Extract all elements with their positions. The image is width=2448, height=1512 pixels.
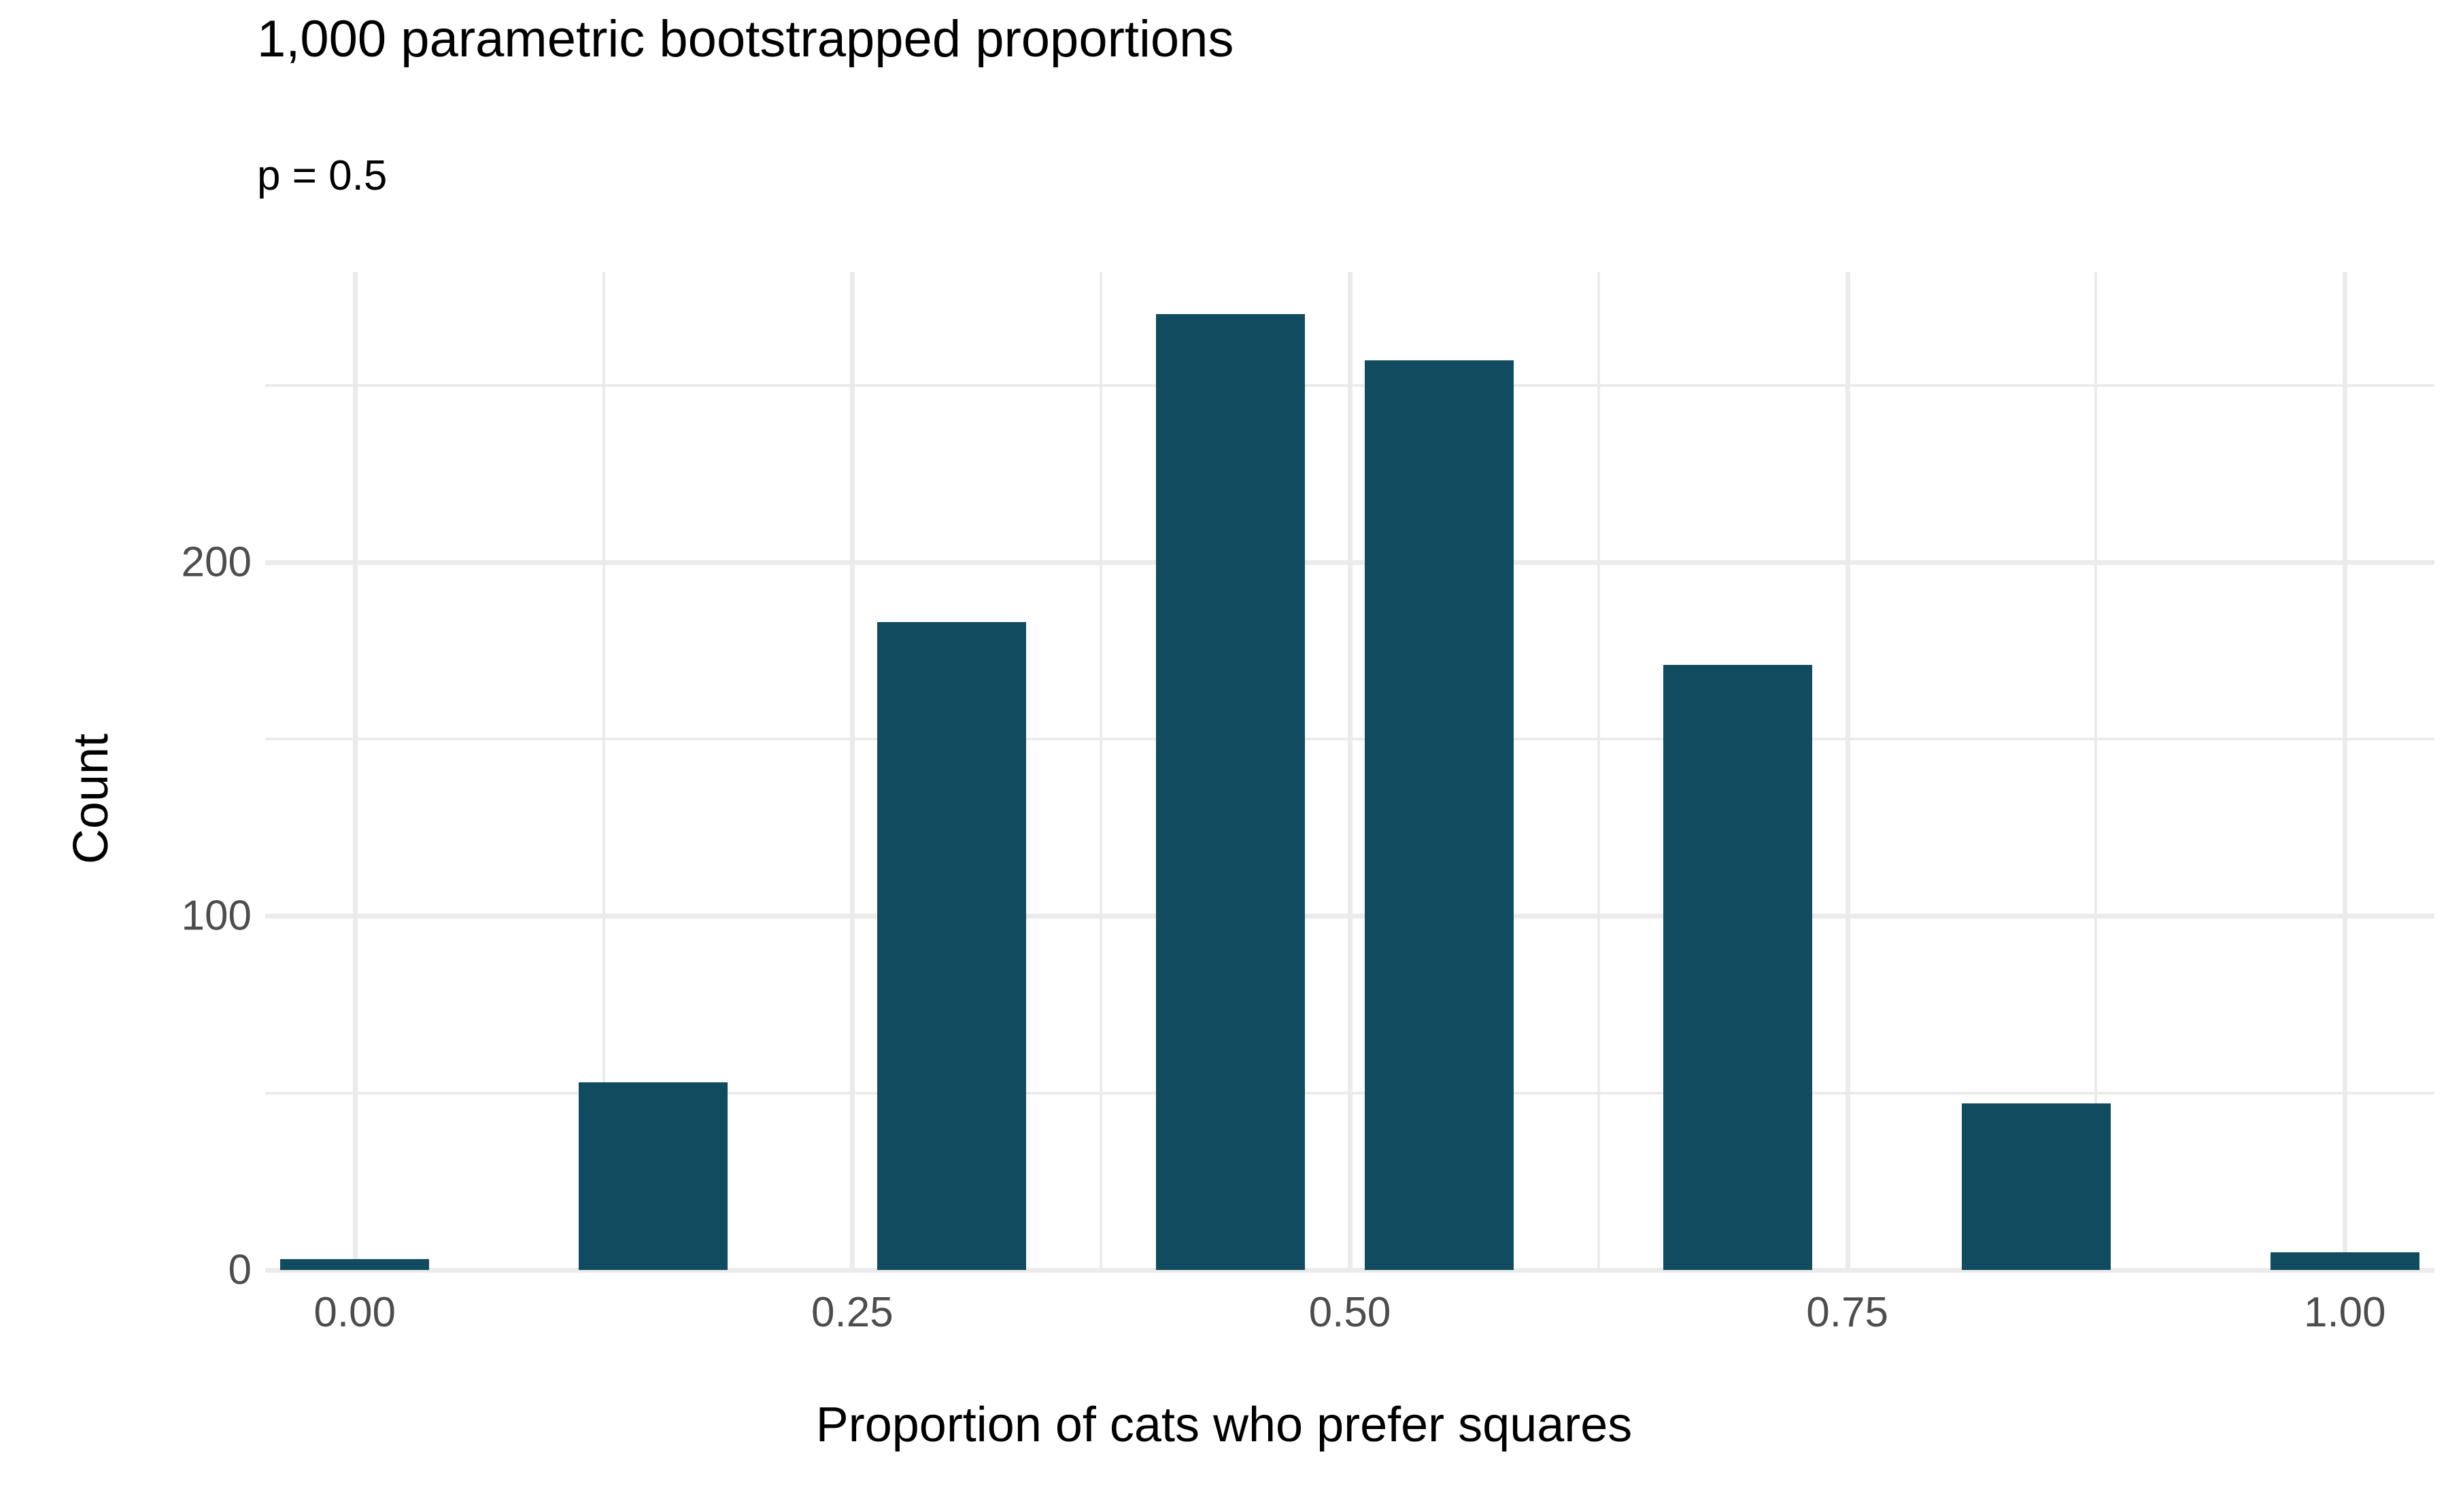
x-axis-tick-label: 0.75 xyxy=(1806,1288,1888,1337)
x-axis-title: Proportion of cats who prefer squares xyxy=(0,1397,2448,1453)
plot-panel xyxy=(265,272,2434,1270)
histogram-bar xyxy=(579,1082,728,1270)
histogram-bar xyxy=(280,1259,429,1270)
gridline-vertical-major xyxy=(1348,272,1353,1270)
chart-figure: 1,000 parametric bootstrapped proportion… xyxy=(0,0,2448,1512)
y-axis-tick-label: 0 xyxy=(48,1246,252,1294)
chart-subtitle: p = 0.5 xyxy=(257,155,387,197)
histogram-bar xyxy=(1663,665,1812,1270)
histogram-bar xyxy=(2271,1252,2419,1270)
gridline-vertical-major xyxy=(353,272,358,1270)
x-axis-tick-label: 1.00 xyxy=(2304,1288,2386,1337)
histogram-bar xyxy=(1962,1103,2111,1270)
x-axis-tick-label: 0.00 xyxy=(313,1288,396,1337)
histogram-bar xyxy=(1365,360,1514,1270)
gridline-vertical-minor xyxy=(1100,272,1102,1270)
histogram-bar xyxy=(877,622,1026,1270)
y-axis-tick-label: 100 xyxy=(48,892,252,940)
gridline-vertical-minor xyxy=(1597,272,1600,1270)
gridline-vertical-major xyxy=(1846,272,1850,1270)
gridline-vertical-major xyxy=(2343,272,2347,1270)
histogram-bar xyxy=(1156,314,1305,1270)
gridline-vertical-major xyxy=(850,272,855,1270)
x-axis-tick-label: 0.50 xyxy=(1309,1288,1391,1337)
y-axis-tick-label: 200 xyxy=(48,538,252,586)
chart-title: 1,000 parametric bootstrapped proportion… xyxy=(257,14,1234,65)
y-axis-title: Count xyxy=(63,300,119,1298)
x-axis-tick-label: 0.25 xyxy=(811,1288,894,1337)
